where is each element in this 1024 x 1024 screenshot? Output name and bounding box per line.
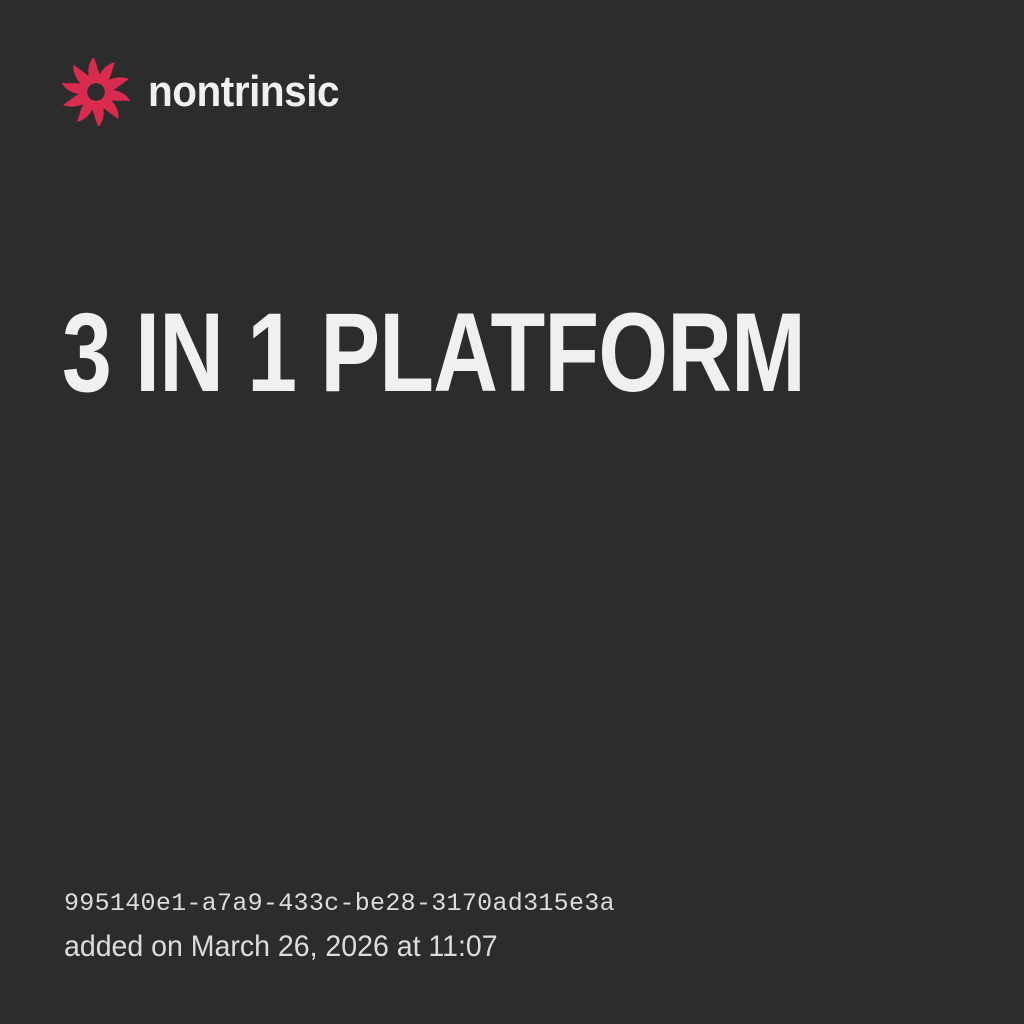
brand-header: nontrinsic xyxy=(62,58,356,126)
spiral-pinwheel-icon xyxy=(62,58,130,126)
record-id: 995140e1-a7a9-433c-be28-3170ad315e3a xyxy=(64,886,964,922)
page-title: 3 IN 1 PLATFORM xyxy=(62,297,782,409)
added-timestamp: added on March 26, 2026 at 11:07 xyxy=(64,926,919,968)
brand-wordmark: nontrinsic xyxy=(148,70,339,114)
content-card: nontrinsic 3 IN 1 PLATFORM 995140e1-a7a9… xyxy=(0,0,1024,1024)
meta-block: 995140e1-a7a9-433c-be28-3170ad315e3a add… xyxy=(64,886,964,968)
